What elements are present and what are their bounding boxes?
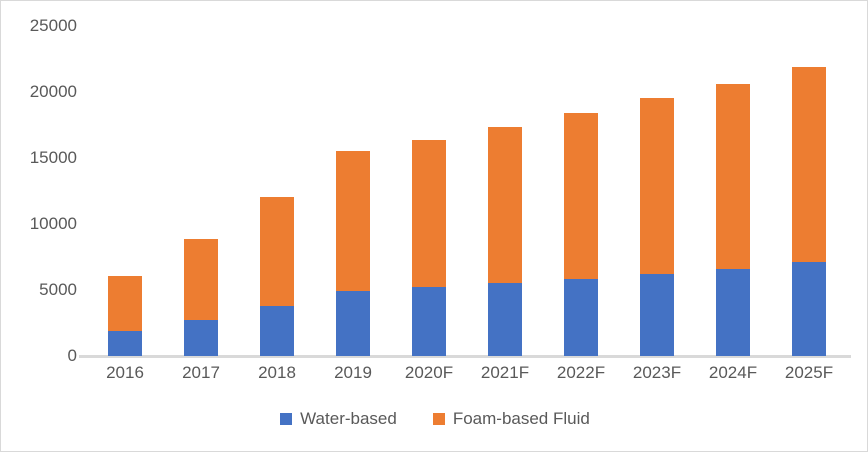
x-axis-tick-label: 2023F	[619, 363, 695, 391]
y-axis-tick-label: 20000	[30, 82, 77, 102]
bar-segment-foam-based-fluid[interactable]	[184, 239, 218, 320]
chart-legend: Water-basedFoam-based Fluid	[1, 409, 868, 429]
x-axis-tick-label: 2018	[239, 363, 315, 391]
bar-group	[543, 26, 619, 356]
bar-segment-foam-based-fluid[interactable]	[108, 276, 142, 331]
legend-label: Foam-based Fluid	[453, 409, 590, 429]
y-axis-tick-label: 5000	[39, 280, 77, 300]
bar-segment-water-based[interactable]	[716, 269, 750, 356]
stacked-bar-chart: 0500010000150002000025000 20162017201820…	[0, 0, 868, 452]
bar-group	[467, 26, 543, 356]
bar-stack[interactable]	[108, 276, 142, 356]
bar-stack[interactable]	[564, 113, 598, 356]
bar-stack[interactable]	[640, 98, 674, 356]
legend-swatch-icon	[433, 413, 445, 425]
bar-segment-foam-based-fluid[interactable]	[260, 197, 294, 306]
x-axis-tick-label: 2020F	[391, 363, 467, 391]
plot-area-bars	[87, 26, 847, 356]
bar-segment-foam-based-fluid[interactable]	[716, 84, 750, 269]
bar-group	[315, 26, 391, 356]
bar-group	[619, 26, 695, 356]
bar-stack[interactable]	[336, 151, 370, 356]
bar-group	[695, 26, 771, 356]
legend-label: Water-based	[300, 409, 397, 429]
bar-segment-water-based[interactable]	[640, 274, 674, 356]
bar-segment-foam-based-fluid[interactable]	[564, 113, 598, 279]
bar-group	[771, 26, 847, 356]
x-axis-tick-label: 2019	[315, 363, 391, 391]
x-axis-tick-label: 2022F	[543, 363, 619, 391]
bar-segment-foam-based-fluid[interactable]	[792, 67, 826, 262]
bar-segment-water-based[interactable]	[108, 331, 142, 356]
y-axis-tick-label: 15000	[30, 148, 77, 168]
bar-segment-foam-based-fluid[interactable]	[488, 127, 522, 283]
bar-stack[interactable]	[488, 127, 522, 356]
bar-segment-water-based[interactable]	[336, 291, 370, 356]
bar-stack[interactable]	[716, 84, 750, 356]
bar-stack[interactable]	[792, 67, 826, 356]
bar-segment-foam-based-fluid[interactable]	[412, 140, 446, 287]
bar-segment-water-based[interactable]	[564, 279, 598, 356]
legend-item[interactable]: Water-based	[280, 409, 397, 429]
bar-group	[391, 26, 467, 356]
bar-group	[87, 26, 163, 356]
bar-group	[163, 26, 239, 356]
y-axis: 0500010000150002000025000	[1, 26, 77, 356]
x-axis-tick-label: 2024F	[695, 363, 771, 391]
bar-segment-water-based[interactable]	[792, 262, 826, 356]
bar-segment-water-based[interactable]	[412, 287, 446, 356]
bar-segment-water-based[interactable]	[260, 306, 294, 356]
bar-stack[interactable]	[412, 140, 446, 356]
x-axis-tick-label: 2016	[87, 363, 163, 391]
x-axis-labels: 20162017201820192020F2021F2022F2023F2024…	[87, 363, 847, 391]
bar-segment-foam-based-fluid[interactable]	[640, 98, 674, 274]
x-axis-tick-label: 2017	[163, 363, 239, 391]
bar-stack[interactable]	[184, 239, 218, 356]
bar-group	[239, 26, 315, 356]
bar-segment-water-based[interactable]	[184, 320, 218, 356]
legend-item[interactable]: Foam-based Fluid	[433, 409, 590, 429]
y-axis-tick-label: 10000	[30, 214, 77, 234]
y-axis-tick-label: 0	[68, 346, 77, 366]
bar-segment-water-based[interactable]	[488, 283, 522, 356]
legend-swatch-icon	[280, 413, 292, 425]
bar-segment-foam-based-fluid[interactable]	[336, 151, 370, 290]
x-axis-tick-label: 2025F	[771, 363, 847, 391]
bar-stack[interactable]	[260, 197, 294, 356]
x-axis-tick-label: 2021F	[467, 363, 543, 391]
y-axis-tick-label: 25000	[30, 16, 77, 36]
